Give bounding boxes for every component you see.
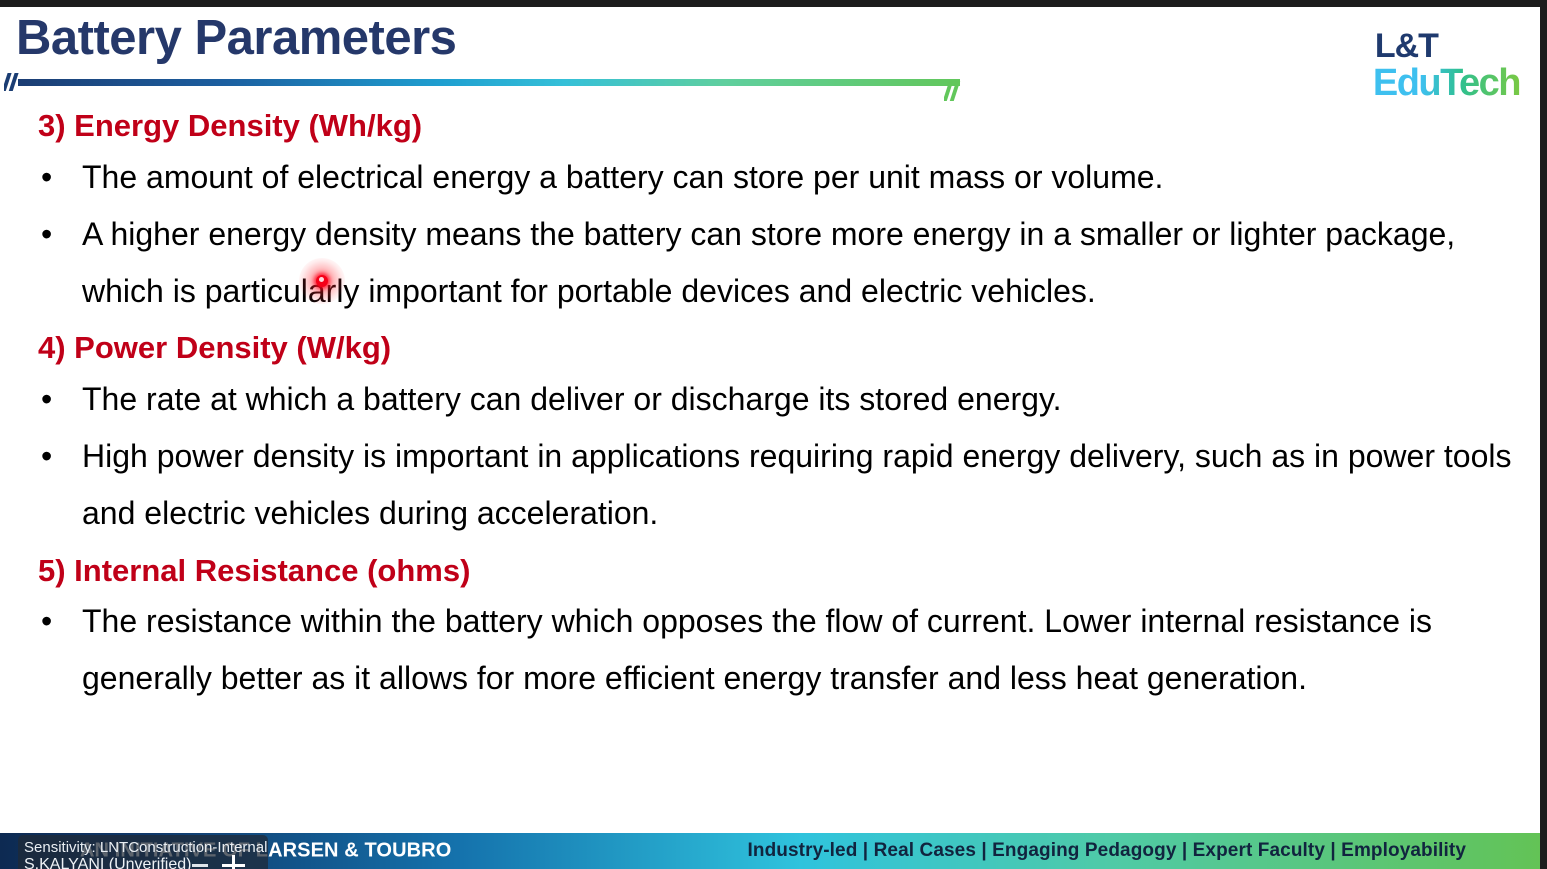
logo-secondary-text: EduTech xyxy=(1373,64,1520,102)
lnt-edutech-logo: L&T EduTech xyxy=(1373,29,1520,102)
sensitivity-label-text: Sensitivity: LNTConstruction-Internal Us… xyxy=(24,839,268,856)
footer-tagline-text: Industry-led | Real Cases | Engaging Ped… xyxy=(747,840,1466,862)
list-item-text: The resistance within the battery which … xyxy=(82,603,1432,696)
section-heading: 4) Power Density (W/kg) xyxy=(38,328,1540,369)
list-item: • The rate at which a battery can delive… xyxy=(0,371,1530,428)
bullet-dot-icon: • xyxy=(41,206,52,263)
list-item-text: High power density is important in appli… xyxy=(82,438,1511,531)
bullet-dot-icon: • xyxy=(41,428,52,485)
bullet-list: • The resistance within the battery whic… xyxy=(0,593,1540,707)
list-item: • The resistance within the battery whic… xyxy=(0,593,1530,707)
list-item: • High power density is important in app… xyxy=(0,428,1530,542)
bullet-dot-icon: • xyxy=(41,149,52,206)
logo-primary-text: L&T xyxy=(1375,29,1520,63)
top-edge-bar xyxy=(0,0,1547,7)
laser-dot-icon xyxy=(316,275,328,287)
bullet-dot-icon: • xyxy=(41,371,52,428)
slide-header: Battery Parameters L&T EduTech xyxy=(0,7,1540,102)
list-item-text: The rate at which a battery can deliver … xyxy=(82,381,1061,417)
overlay-controls[interactable] xyxy=(190,859,260,869)
sensitivity-user-text: S.KALYANI (Unverified) xyxy=(24,856,191,869)
bullet-dot-icon: • xyxy=(41,593,52,650)
section-heading: 3) Energy Density (Wh/kg) xyxy=(38,106,1540,147)
section-power-density: 4) Power Density (W/kg) • The rate at wh… xyxy=(0,328,1540,542)
list-item-text: The amount of electrical energy a batter… xyxy=(82,159,1163,195)
plus-icon-cross[interactable] xyxy=(222,864,245,867)
bullet-list: • The rate at which a battery can delive… xyxy=(0,371,1540,542)
slide-content: 3) Energy Density (Wh/kg) • The amount o… xyxy=(0,102,1540,707)
section-internal-resistance: 5) Internal Resistance (ohms) • The resi… xyxy=(0,551,1540,708)
list-item: • The amount of electrical energy a batt… xyxy=(0,149,1530,206)
sensitivity-label-overlay[interactable]: Sensitivity: LNTConstruction-Internal Us… xyxy=(18,835,268,869)
section-heading: 5) Internal Resistance (ohms) xyxy=(38,551,1540,592)
rule-tick-right-icon xyxy=(944,81,964,101)
page-title: Battery Parameters xyxy=(16,12,456,66)
minus-icon[interactable] xyxy=(192,864,208,867)
presentation-slide: Battery Parameters L&T EduTech 3) Energy… xyxy=(0,0,1547,869)
bullet-list: • The amount of electrical energy a batt… xyxy=(0,149,1540,320)
slide-canvas: Battery Parameters L&T EduTech 3) Energy… xyxy=(0,7,1540,869)
list-item-text: A higher energy density means the batter… xyxy=(82,216,1455,309)
section-energy-density: 3) Energy Density (Wh/kg) • The amount o… xyxy=(0,106,1540,320)
list-item: • A higher energy density means the batt… xyxy=(0,206,1530,320)
right-edge-bar xyxy=(1540,0,1547,869)
title-gradient-rule xyxy=(18,79,960,86)
